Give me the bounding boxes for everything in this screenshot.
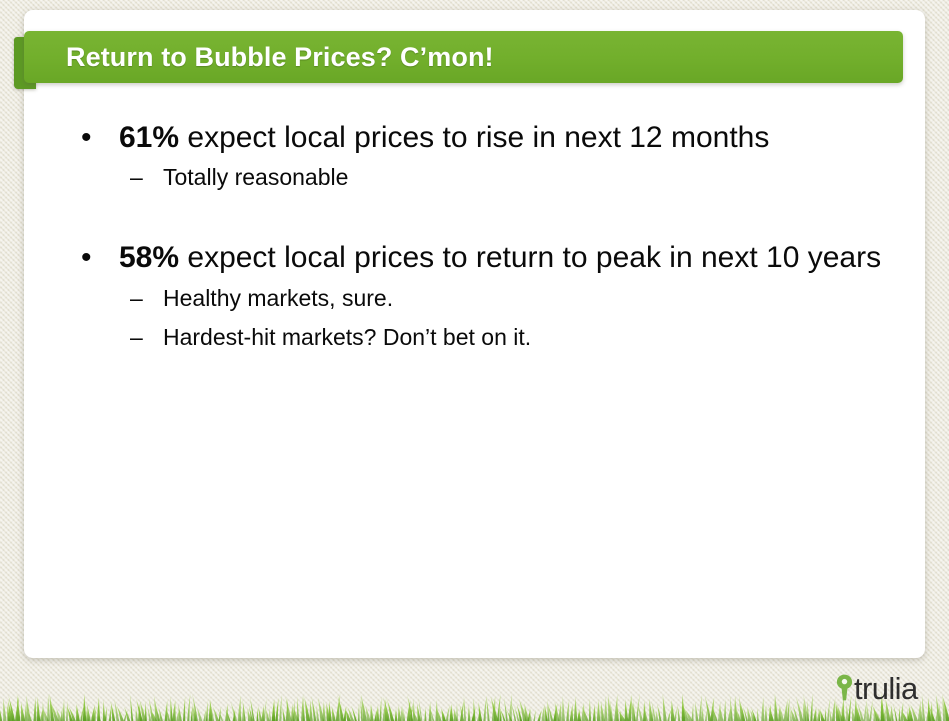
bullet-marker-icon: • <box>81 118 92 158</box>
slide-body: •61% expect local prices to rise in next… <box>24 118 925 353</box>
trulia-wordmark: trulia <box>854 673 918 704</box>
bullet-group: •61% expect local prices to rise in next… <box>24 118 925 193</box>
sub-bullet-dash-icon: – <box>130 282 143 314</box>
sub-bullet-dash-icon: – <box>130 161 143 193</box>
bullet-text: expect local prices to return to peak in… <box>179 241 881 274</box>
sub-bullet-item: –Hardest-hit markets? Don’t bet on it. <box>24 321 925 353</box>
bullet-marker-icon: • <box>81 238 92 278</box>
sub-bullet-text: Healthy markets, sure. <box>163 285 393 311</box>
bullet-stat-value: 58% <box>119 241 179 274</box>
sub-bullet-dash-icon: – <box>130 321 143 353</box>
map-pin-icon <box>836 674 853 701</box>
sub-bullet-text: Hardest-hit markets? Don’t bet on it. <box>163 324 531 350</box>
bullet-text: expect local prices to rise in next 12 m… <box>179 121 769 154</box>
trulia-logo: trulia <box>836 664 918 704</box>
page-title: Return to Bubble Prices? C’mon! <box>24 42 494 73</box>
sub-bullet-item: –Totally reasonable <box>24 161 925 193</box>
bullet-stat-value: 61% <box>119 121 179 154</box>
bullet-group: •58% expect local prices to return to pe… <box>24 238 925 353</box>
sub-bullet-item: –Healthy markets, sure. <box>24 282 925 314</box>
bullet-item: •58% expect local prices to return to pe… <box>24 238 925 278</box>
bullet-item: •61% expect local prices to rise in next… <box>24 118 925 158</box>
grass-strip-icon <box>0 687 949 721</box>
sub-bullet-text: Totally reasonable <box>163 164 348 190</box>
title-banner-container: Return to Bubble Prices? C’mon! <box>14 31 903 83</box>
title-banner: Return to Bubble Prices? C’mon! <box>24 31 903 83</box>
